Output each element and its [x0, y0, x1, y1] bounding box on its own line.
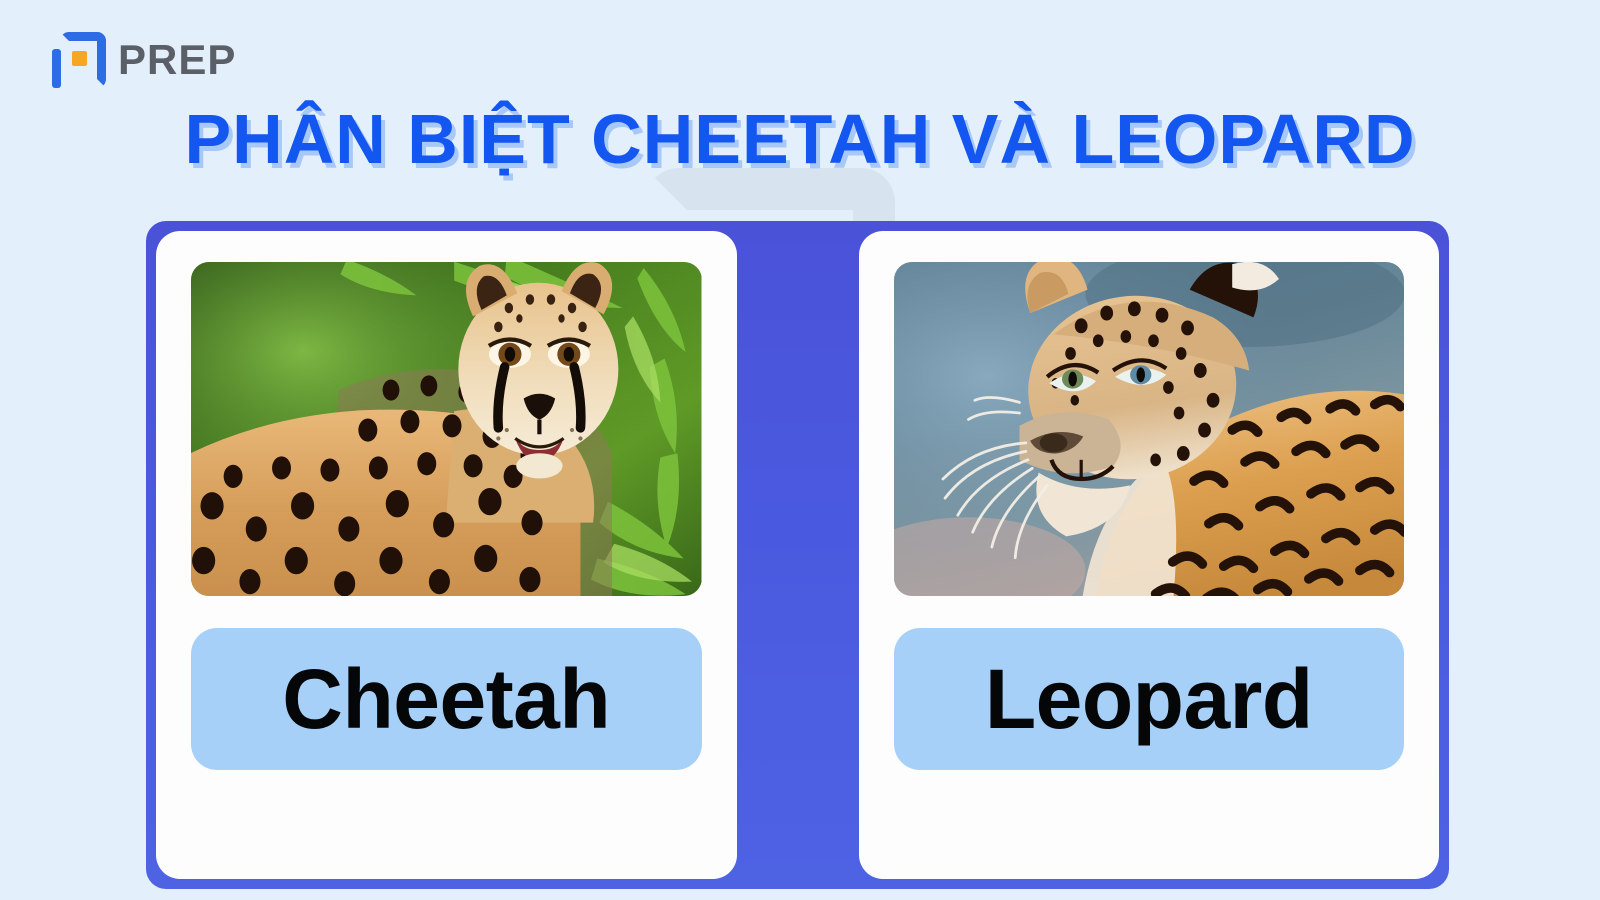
- prep-bracket-logo-icon: [52, 32, 106, 88]
- card-cheetah[interactable]: Cheetah: [156, 231, 737, 879]
- leopard-photo-icon: [894, 262, 1405, 596]
- card-label-leopard: Leopard: [894, 628, 1405, 770]
- card-label-cheetah: Cheetah: [191, 628, 702, 770]
- comparison-panel: Cheetah: [146, 221, 1449, 889]
- card-leopard[interactable]: Leopard: [859, 231, 1440, 879]
- brand-logo[interactable]: PREP: [52, 32, 236, 88]
- cheetah-photo-icon: [191, 262, 702, 596]
- page-title: PHÂN BIỆT CHEETAH VÀ LEOPARD: [0, 104, 1600, 174]
- brand-name: PREP: [118, 39, 236, 81]
